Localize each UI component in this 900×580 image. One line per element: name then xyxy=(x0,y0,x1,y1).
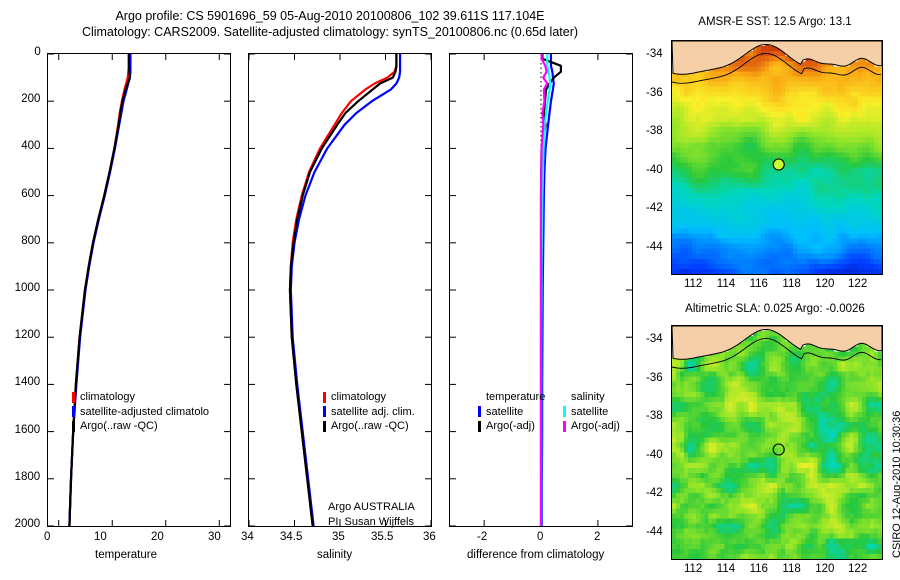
sla-lon-tick-112: 112 xyxy=(684,563,702,575)
legend-label-temp-satellite: satellite xyxy=(486,405,523,420)
legend-swatch-salinity-argo-icon xyxy=(563,421,566,432)
depth-tick-1800: 1800 xyxy=(15,471,41,483)
depth-tick-200: 200 xyxy=(21,93,40,105)
legend-item-satellite-adj-sal: satellite adj. clim. xyxy=(323,405,415,420)
legend-item-climatology-sal: climatology xyxy=(323,390,415,405)
sst-lat-tick-minus44: -44 xyxy=(646,241,663,253)
sst-map-panel[interactable] xyxy=(671,40,883,275)
legend-item-sal-satellite: satellite xyxy=(563,405,620,420)
depth-tick-600: 600 xyxy=(21,188,40,200)
difference-panel[interactable] xyxy=(449,53,633,527)
sla-lon-tick-114: 114 xyxy=(717,563,735,575)
sal-xtick-34-5: 34.5 xyxy=(280,531,302,543)
sla-lon-tick-122: 122 xyxy=(848,563,867,575)
sla-lat-tick-minus40: -40 xyxy=(646,449,663,461)
temperature-panel[interactable] xyxy=(47,53,231,527)
difference-legend-salinity: salinity satellite Argo(-adj) xyxy=(563,390,620,434)
sst-map-title: AMSR-E SST: 12.5 Argo: 13.1 xyxy=(665,16,885,28)
sal-xtick-36: 36 xyxy=(423,531,436,543)
legend-item-climatology: climatology xyxy=(72,390,209,405)
temperature-legend: climatology satellite-adjusted climatolo… xyxy=(72,390,209,434)
sst-lon-tick-112: 112 xyxy=(684,278,702,290)
legend-swatch-satellite-icon xyxy=(72,406,75,417)
figure-title: Argo profile: CS 5901696_59 05-Aug-2010 … xyxy=(0,8,660,40)
sla-lon-tick-116: 116 xyxy=(750,563,768,575)
sal-xtick-34: 34 xyxy=(241,531,254,543)
sla-map-panel[interactable] xyxy=(671,325,883,560)
legend-swatch-argo-icon xyxy=(72,421,75,432)
credit-line-pi: PI: Susan Wijffels xyxy=(328,515,415,530)
salinity-axis-label: salinity xyxy=(317,549,352,561)
depth-tick-1200: 1200 xyxy=(15,329,41,341)
legend-heading-salinity: salinity xyxy=(563,390,620,405)
difference-plot-area xyxy=(450,54,632,526)
legend-swatch-satellite-icon xyxy=(323,406,326,417)
sst-lat-tick-minus36: -36 xyxy=(646,87,663,99)
dif-xtick-2: 2 xyxy=(594,531,600,543)
legend-label-temp-argo-adj: Argo(-adj) xyxy=(486,419,535,434)
sst-lat-tick-minus42: -42 xyxy=(646,202,663,214)
legend-heading-temperature-label: temperature xyxy=(486,390,545,405)
legend-label-climatology-sal: climatology xyxy=(331,390,386,405)
dif-xtick-0: 0 xyxy=(537,531,543,543)
sst-lon-tick-118: 118 xyxy=(782,278,800,290)
sal-xtick-35-5: 35.5 xyxy=(371,531,393,543)
legend-label-satellite-adj-sal: satellite adj. clim. xyxy=(331,405,415,420)
temp-xtick-0: 0 xyxy=(44,531,50,543)
salinity-panel[interactable] xyxy=(248,53,432,527)
sst-lat-tick-minus38: -38 xyxy=(646,125,663,137)
legend-heading-salinity-label: salinity xyxy=(571,390,605,405)
legend-label-climatology: climatology xyxy=(80,390,135,405)
sla-lat-tick-minus44: -44 xyxy=(646,526,663,538)
salinity-legend: climatology satellite adj. clim. Argo(..… xyxy=(323,390,415,434)
legend-label-argo-raw-sal: Argo(..raw -QC) xyxy=(331,419,409,434)
depth-tick-400: 400 xyxy=(21,140,40,152)
legend-item-argo-raw: Argo(..raw -QC) xyxy=(72,419,209,434)
argo-position-marker xyxy=(773,159,784,170)
temperature-axis-label: temperature xyxy=(95,549,157,561)
sst-lon-tick-120: 120 xyxy=(815,278,834,290)
credit-line-organisation: Argo AUSTRALIA xyxy=(328,500,415,515)
temperature-plot-area xyxy=(48,54,230,526)
legend-label-sal-satellite: satellite xyxy=(571,405,608,420)
temp-xtick-20: 20 xyxy=(151,531,164,543)
difference-axis-label: difference from climatology xyxy=(467,549,604,561)
title-line-climatology: Climatology: CARS2009. Satellite-adjuste… xyxy=(0,24,660,40)
depth-tick-2000: 2000 xyxy=(15,518,41,530)
depth-tick-1400: 1400 xyxy=(15,376,41,388)
legend-swatch-climatology-icon xyxy=(72,392,75,403)
sst-lat-tick-minus34: -34 xyxy=(646,48,663,60)
sla-lon-tick-118: 118 xyxy=(782,563,800,575)
legend-swatch-satellite-icon xyxy=(478,406,481,417)
sla-lat-tick-minus38: -38 xyxy=(646,410,663,422)
sla-lat-tick-minus42: -42 xyxy=(646,487,663,499)
sla-map-title: Altimetric SLA: 0.025 Argo: -0.0026 xyxy=(660,303,890,315)
sla-map-image xyxy=(672,326,882,559)
legend-label-argo-raw: Argo(..raw -QC) xyxy=(80,419,158,434)
sla-lon-tick-120: 120 xyxy=(815,563,834,575)
legend-heading-temperature: temperature xyxy=(478,390,545,405)
sst-lon-tick-122: 122 xyxy=(848,278,867,290)
legend-swatch-climatology-icon xyxy=(323,392,326,403)
temp-xtick-30: 30 xyxy=(208,531,221,543)
dif-xtick-minus2: -2 xyxy=(477,531,487,543)
legend-swatch-salinity-satellite-icon xyxy=(563,406,566,417)
sst-map-image xyxy=(672,41,882,274)
sla-lat-tick-minus34: -34 xyxy=(646,333,663,345)
depth-tick-0: 0 xyxy=(34,46,40,58)
legend-item-argo-raw-sal: Argo(..raw -QC) xyxy=(323,419,415,434)
temp-xtick-10: 10 xyxy=(94,531,107,543)
title-line-argo-profile: Argo profile: CS 5901696_59 05-Aug-2010 … xyxy=(0,8,660,24)
legend-item-temp-argo-adj: Argo(-adj) xyxy=(478,419,545,434)
difference-legend-temperature: temperature satellite Argo(-adj) xyxy=(478,390,545,434)
depth-tick-800: 800 xyxy=(21,235,40,247)
argo-australia-credit: Argo AUSTRALIA PI: Susan Wijffels xyxy=(328,500,415,529)
legend-label-sal-argo-adj: Argo(-adj) xyxy=(571,419,620,434)
legend-item-temp-satellite: satellite xyxy=(478,405,545,420)
salinity-plot-area xyxy=(249,54,431,526)
legend-swatch-argo-icon xyxy=(478,421,481,432)
depth-tick-1600: 1600 xyxy=(15,424,41,436)
legend-item-sal-argo-adj: Argo(-adj) xyxy=(563,419,620,434)
sst-lat-tick-minus40: -40 xyxy=(646,164,663,176)
legend-item-satellite-adjusted: satellite-adjusted climatolo xyxy=(72,405,209,420)
legend-label-satellite-adjusted: satellite-adjusted climatolo xyxy=(80,405,209,420)
sla-lat-tick-minus36: -36 xyxy=(646,372,663,384)
csiro-timestamp: CSIRO 12-Aug-2010 10:30:36 xyxy=(891,411,900,558)
sst-lon-tick-116: 116 xyxy=(750,278,768,290)
depth-tick-1000: 1000 xyxy=(15,282,41,294)
sst-lon-tick-114: 114 xyxy=(717,278,735,290)
legend-swatch-argo-icon xyxy=(323,421,326,432)
sal-xtick-35: 35 xyxy=(332,531,345,543)
